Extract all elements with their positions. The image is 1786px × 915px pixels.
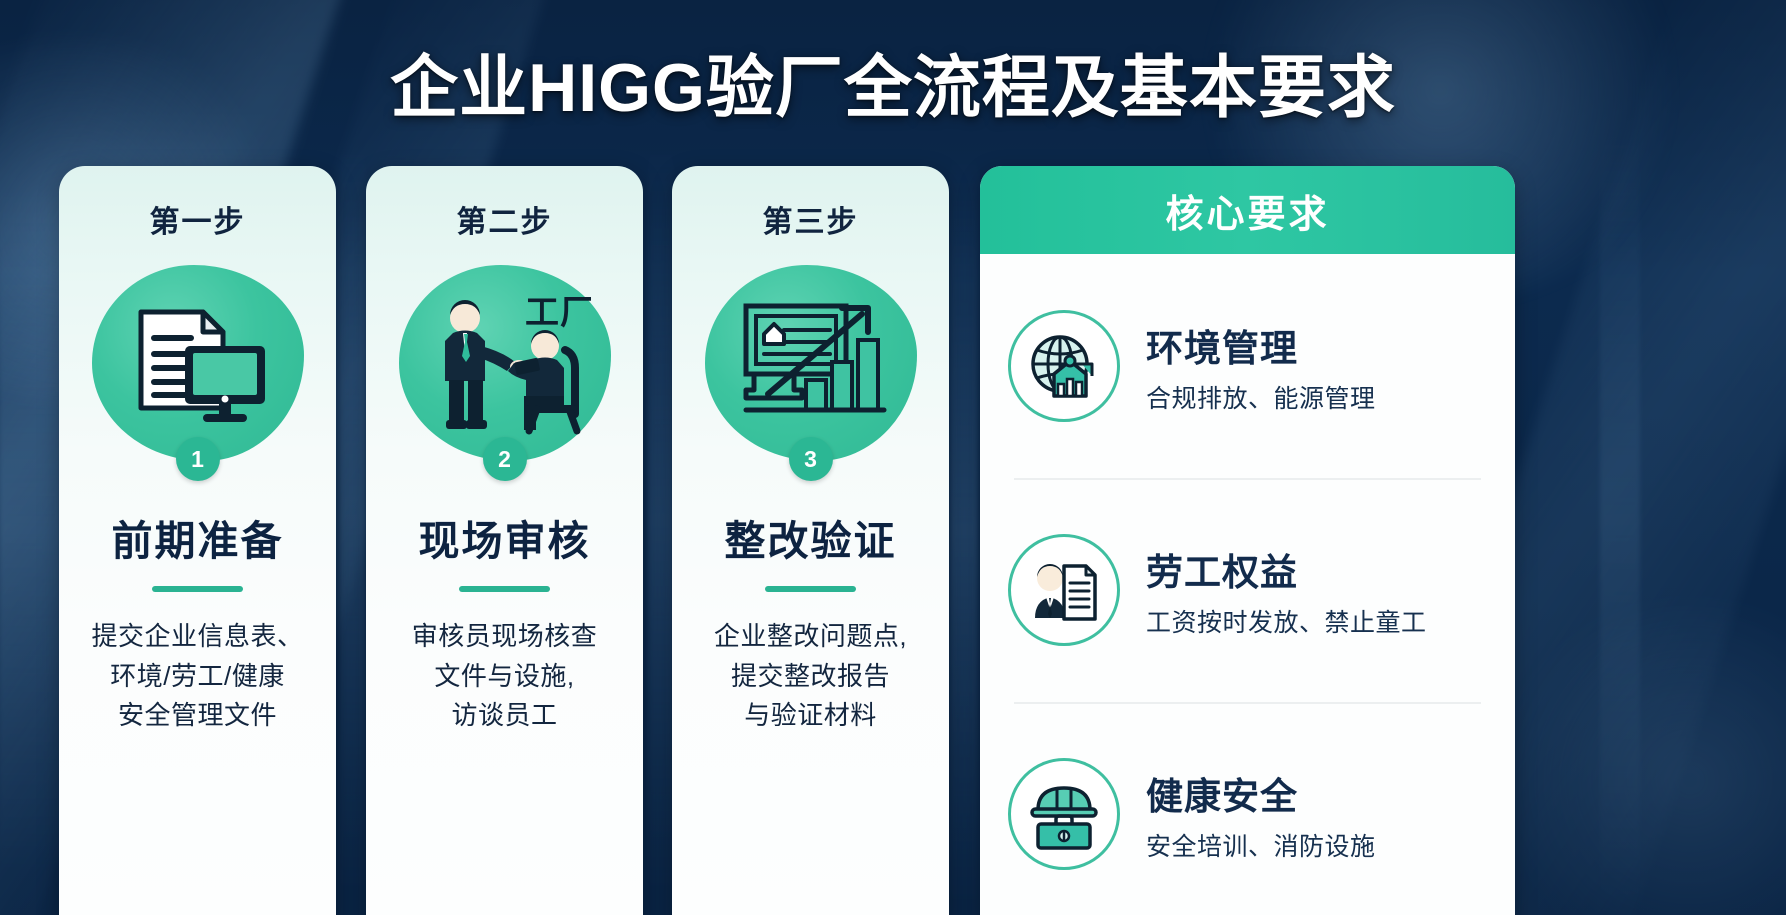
auditor-interview-icon: 工厂 [399,265,611,461]
step-label: 第一步 [150,197,246,241]
globe-factory-icon [1008,310,1120,422]
core-requirements-panel: 核心要求 [980,166,1515,915]
step-divider [765,586,856,592]
requirement-row[interactable]: 健康安全 安全培训、消防设施 [1008,702,1487,915]
document-computer-icon [92,265,304,461]
core-requirements-list: 环境管理 合规排放、能源管理 [980,254,1515,915]
requirement-text: 劳工权益 工资按时发放、禁止童工 [1146,542,1427,639]
step-number-badge: 3 [789,437,833,481]
requirement-subtitle: 工资按时发放、禁止童工 [1146,603,1427,639]
step-label: 第三步 [763,197,859,241]
worker-document-icon [1008,534,1120,646]
step-number-badge: 2 [483,437,527,481]
requirement-subtitle: 安全培训、消防设施 [1146,827,1376,863]
requirement-title: 劳工权益 [1146,542,1427,596]
step-number-badge: 1 [176,437,220,481]
step-icon-container: 工厂 [399,265,611,461]
requirement-text: 健康安全 安全培训、消防设施 [1146,766,1376,863]
step-label: 第二步 [457,197,553,241]
svg-text:工厂: 工厂 [525,294,591,332]
step-description: 审核员现场核查 文件与设施, 访谈员工 [412,617,598,736]
step-card-1[interactable]: 第一步 1 前期准备 [59,166,336,915]
requirement-row[interactable]: 环境管理 合规排放、能源管理 [1008,254,1487,478]
step-divider [459,586,550,592]
requirement-title: 健康安全 [1146,766,1376,820]
step-description: 企业整改问题点, 提交整改报告 与验证材料 [714,617,907,736]
step-icon-container: 1 [92,265,304,461]
step-divider [152,586,243,592]
requirement-title: 环境管理 [1146,318,1376,372]
step-title: 前期准备 [112,507,284,567]
page-title: 企业HIGG验厂全流程及基本要求 [0,32,1786,131]
requirement-text: 环境管理 合规排放、能源管理 [1146,318,1376,415]
requirement-row[interactable]: 劳工权益 工资按时发放、禁止童工 [1008,478,1487,702]
step-card-2[interactable]: 第二步 工厂 [366,166,643,915]
step-description: 提交企业信息表、 环境/劳工/健康 安全管理文件 [91,617,303,736]
helmet-toolkit-icon [1008,758,1120,870]
step-title: 整改验证 [725,507,897,567]
step-icon-container: 3 [705,265,917,461]
step-card-3[interactable]: 第三步 [672,166,949,915]
core-requirements-header: 核心要求 [980,166,1515,254]
requirement-subtitle: 合规排放、能源管理 [1146,379,1376,415]
step-title: 现场审核 [419,507,591,567]
growth-chart-icon [705,265,917,461]
